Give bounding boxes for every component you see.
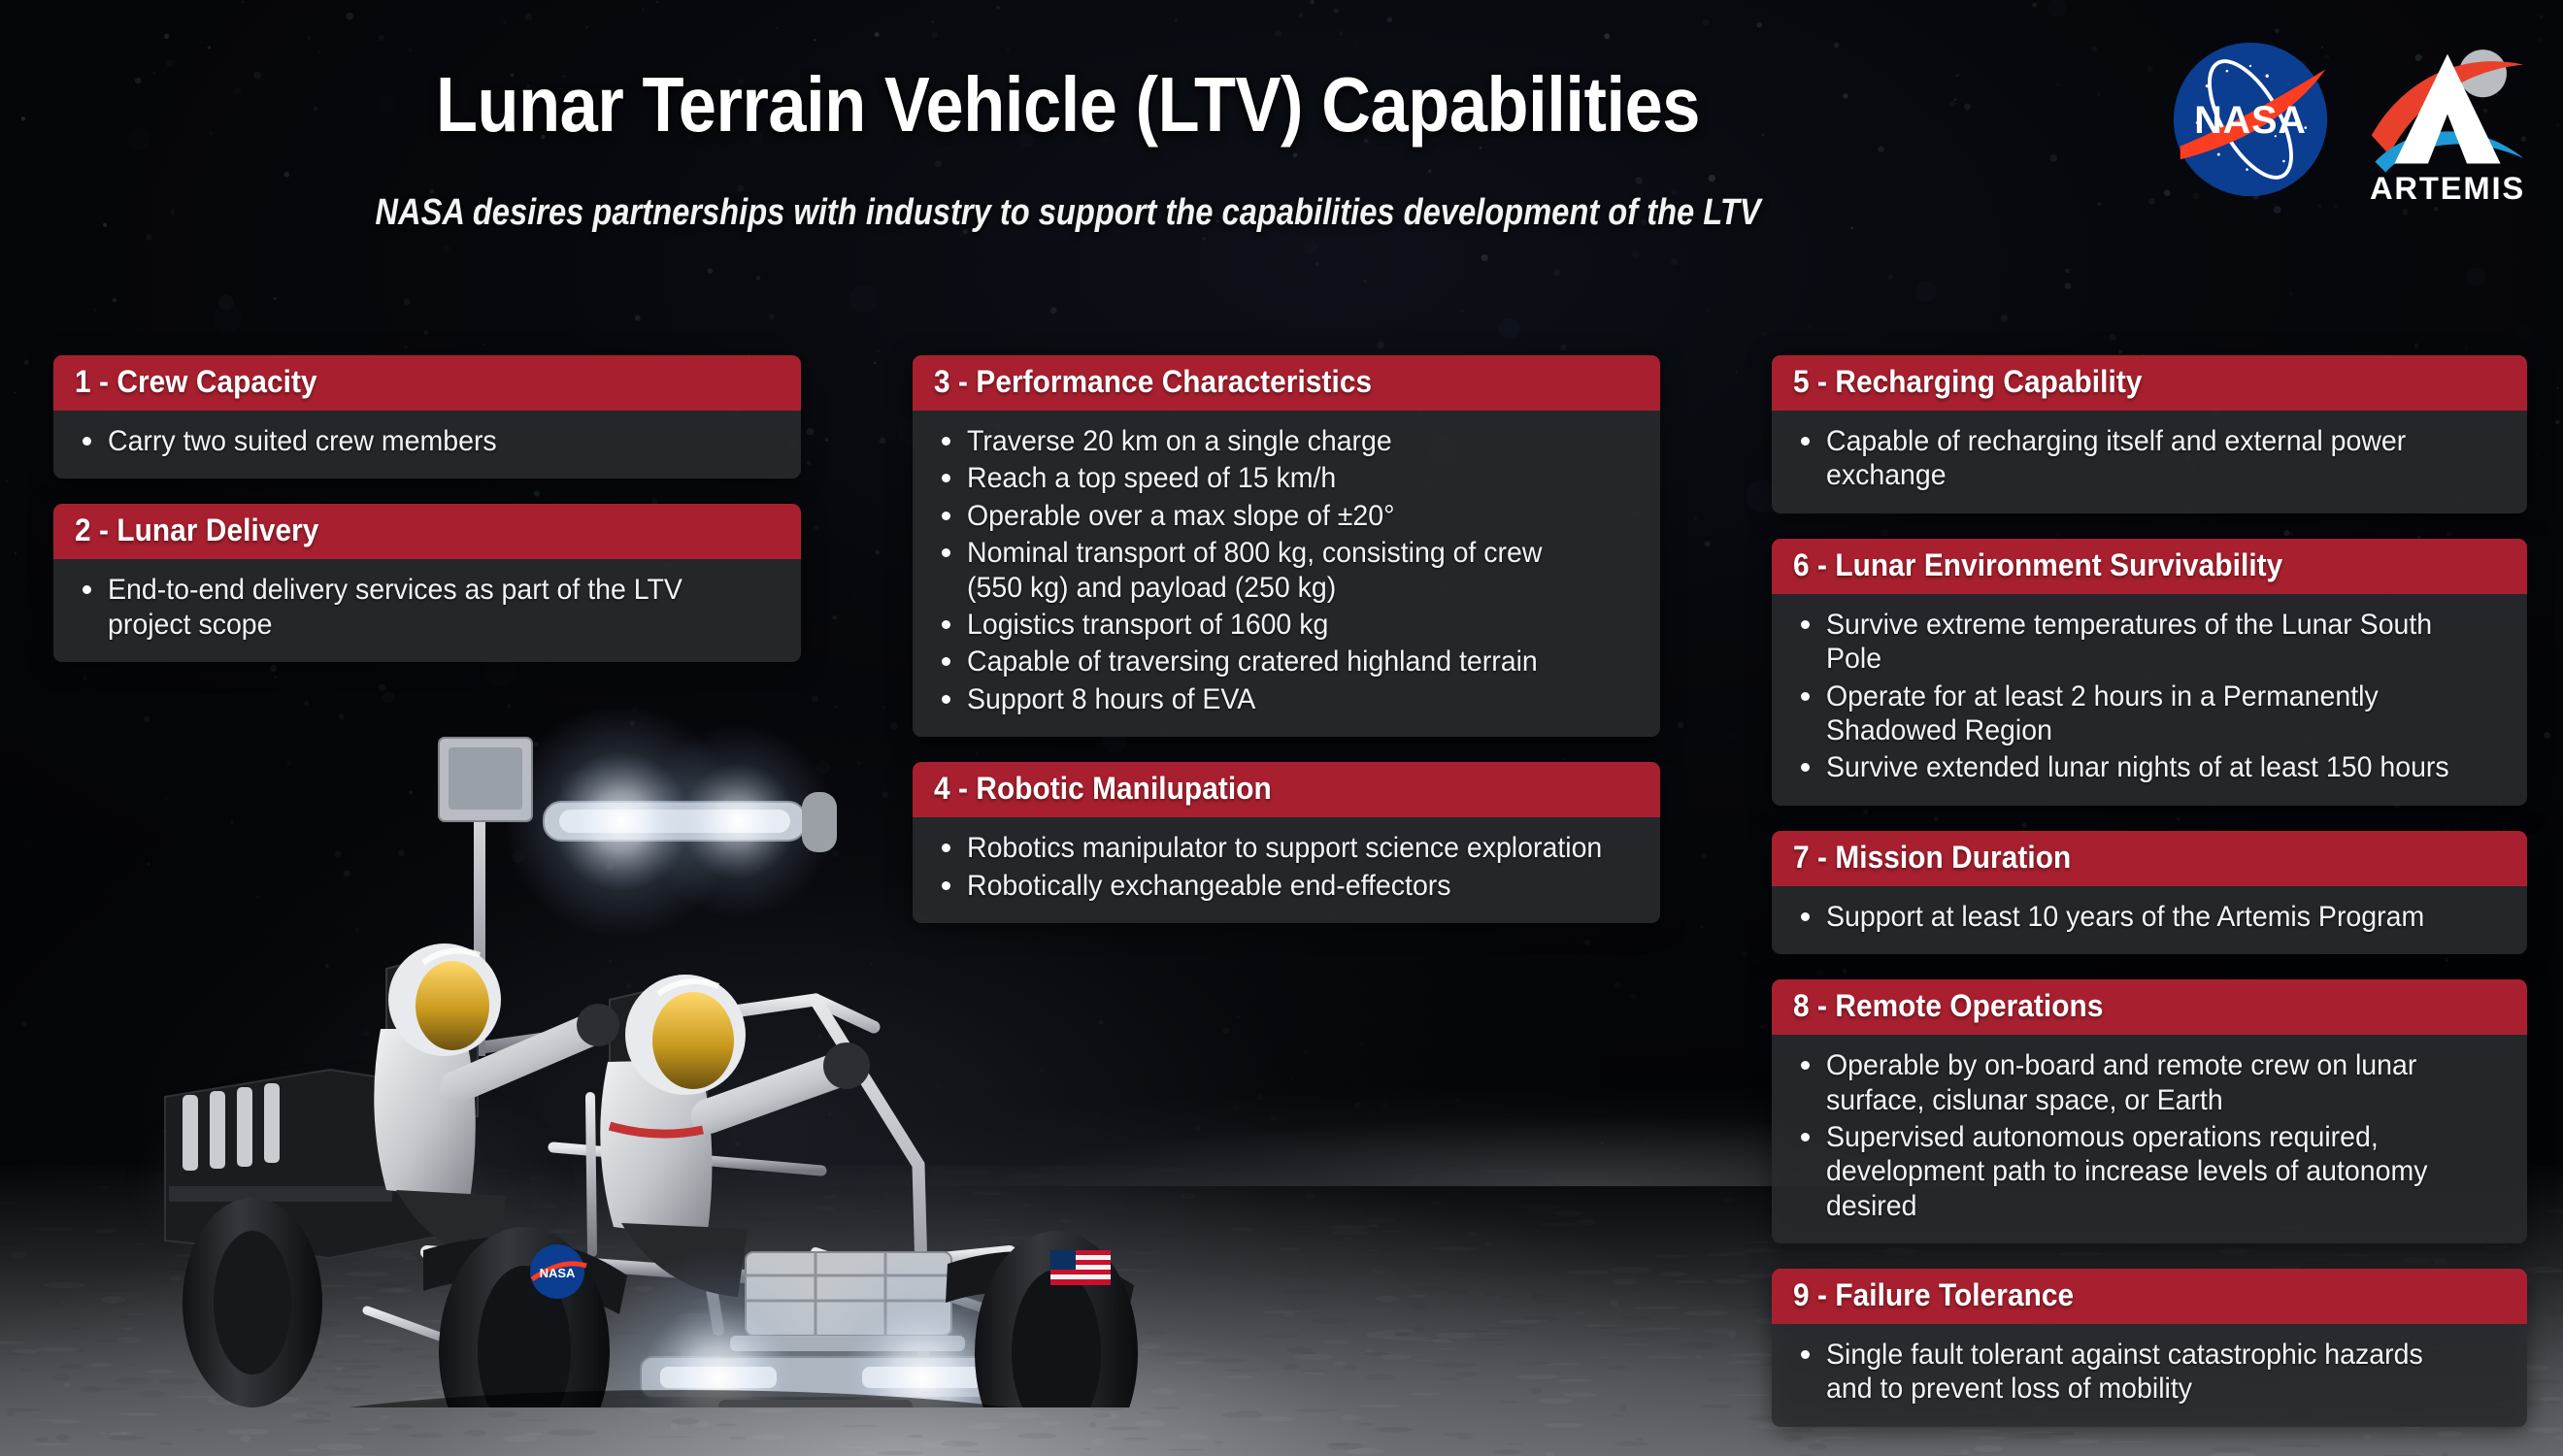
bullet-text: Operate for at least 2 hours in a Perman…: [1826, 679, 2470, 748]
bullet-text: Carry two suited crew members: [108, 424, 497, 458]
card-recharging-capability: 5 - Recharging CapabilityCapable of rech…: [1772, 355, 2527, 513]
card-title: 6 - Lunar Environment Survivability: [1793, 547, 2282, 583]
card-crew-capacity: 1 - Crew CapacityCarry two suited crew m…: [53, 355, 801, 479]
bullet-item: Traverse 20 km on a single charge: [938, 424, 1637, 458]
bullet-text: Nominal transport of 800 kg, consisting …: [967, 536, 1604, 605]
card-body: Single fault tolerant against catastroph…: [1772, 1324, 2527, 1427]
card-header: 7 - Mission Duration: [1772, 831, 2527, 886]
bullet-list: Carry two suited crew members: [79, 424, 778, 458]
card-header: 6 - Lunar Environment Survivability: [1772, 539, 2527, 594]
card-header: 8 - Remote Operations: [1772, 979, 2527, 1035]
card-lunar-environment-survivability: 6 - Lunar Environment SurvivabilitySurvi…: [1772, 539, 2527, 806]
bullet-text: Supervised autonomous operations require…: [1826, 1120, 2470, 1223]
card-header: 9 - Failure Tolerance: [1772, 1269, 2527, 1324]
bullet-item: Capable of traversing cratered highland …: [938, 645, 1637, 678]
card-title: 2 - Lunar Delivery: [75, 513, 318, 548]
page-title: Lunar Terrain Vehicle (LTV) Capabilities: [128, 60, 2008, 149]
header: Lunar Terrain Vehicle (LTV) Capabilities…: [0, 0, 2563, 320]
bullet-text: Reach a top speed of 15 km/h: [967, 461, 1336, 495]
card-header: 5 - Recharging Capability: [1772, 355, 2527, 411]
card-performance-characteristics: 3 - Performance CharacteristicsTraverse …: [913, 355, 1660, 737]
card-failure-tolerance: 9 - Failure ToleranceSingle fault tolera…: [1772, 1269, 2527, 1427]
artemis-program-logo: ARTEMIS: [2359, 31, 2536, 208]
card-title: 7 - Mission Duration: [1793, 840, 2071, 876]
logo-group: NASA ARTEMIS: [2167, 31, 2536, 208]
bullet-text: End-to-end delivery services as part of …: [108, 573, 745, 642]
bullet-item: Robotically exchangeable end-effectors: [938, 869, 1637, 903]
card-header: 3 - Performance Characteristics: [913, 355, 1660, 411]
card-title: 3 - Performance Characteristics: [934, 364, 1372, 400]
card-body: Survive extreme temperatures of the Luna…: [1772, 594, 2527, 806]
bullet-item: End-to-end delivery services as part of …: [79, 573, 778, 642]
bullet-item: Operate for at least 2 hours in a Perman…: [1797, 679, 2504, 748]
bullet-text: Capable of recharging itself and externa…: [1826, 424, 2470, 493]
bullet-item: Support at least 10 years of the Artemis…: [1797, 900, 2504, 934]
bullet-text: Capable of traversing cratered highland …: [967, 645, 1538, 678]
card-header: 1 - Crew Capacity: [53, 355, 801, 411]
bullet-item: Supervised autonomous operations require…: [1797, 1120, 2504, 1223]
bullet-list: End-to-end delivery services as part of …: [79, 573, 778, 642]
card-body: End-to-end delivery services as part of …: [53, 559, 801, 662]
bullet-list: Operable by on-board and remote crew on …: [1797, 1048, 2504, 1223]
card-header: 4 - Robotic Manilupation: [913, 762, 1660, 817]
bullet-text: Single fault tolerant against catastroph…: [1826, 1338, 2470, 1406]
bullet-item: Logistics transport of 1600 kg: [938, 608, 1637, 642]
bullet-list: Support at least 10 years of the Artemis…: [1797, 900, 2504, 934]
bullet-text: Operable over a max slope of ±20°: [967, 499, 1395, 533]
card-robotic-manipulation: 4 - Robotic ManilupationRobotics manipul…: [913, 762, 1660, 923]
column-3: 5 - Recharging CapabilityCapable of rech…: [1772, 355, 2527, 1452]
artemis-wordmark: ARTEMIS: [2370, 170, 2525, 206]
bullet-item: Single fault tolerant against catastroph…: [1797, 1338, 2504, 1406]
bullet-list: Capable of recharging itself and externa…: [1797, 424, 2504, 493]
bullet-text: Survive extended lunar nights of at leas…: [1826, 750, 2449, 784]
bullet-list: Survive extreme temperatures of the Luna…: [1797, 608, 2504, 785]
bullet-text: Robotically exchangeable end-effectors: [967, 869, 1451, 903]
card-title: 4 - Robotic Manilupation: [934, 771, 1272, 807]
nasa-meatball-logo: NASA: [2167, 36, 2334, 203]
bullet-list: Robotics manipulator to support science …: [938, 831, 1637, 903]
bullet-list: Traverse 20 km on a single chargeReach a…: [938, 424, 1637, 716]
card-title: 9 - Failure Tolerance: [1793, 1277, 2074, 1313]
card-body: Support at least 10 years of the Artemis…: [1772, 886, 2527, 954]
bullet-item: Robotics manipulator to support science …: [938, 831, 1637, 865]
bullet-item: Nominal transport of 800 kg, consisting …: [938, 536, 1637, 605]
nasa-wordmark: NASA: [2194, 99, 2307, 142]
bullet-item: Reach a top speed of 15 km/h: [938, 461, 1637, 495]
card-title: 5 - Recharging Capability: [1793, 364, 2143, 400]
card-title: 1 - Crew Capacity: [75, 364, 317, 400]
card-body: Robotics manipulator to support science …: [913, 817, 1660, 923]
bullet-text: Logistics transport of 1600 kg: [967, 608, 1328, 642]
card-header: 2 - Lunar Delivery: [53, 504, 801, 559]
bullet-text: Robotics manipulator to support science …: [967, 831, 1602, 865]
bullet-text: Support at least 10 years of the Artemis…: [1826, 900, 2424, 934]
bullet-item: Operable by on-board and remote crew on …: [1797, 1048, 2504, 1117]
page-subtitle: NASA desires partnerships with industry …: [150, 192, 1986, 234]
column-2: 3 - Performance CharacteristicsTraverse …: [913, 355, 1660, 948]
card-lunar-delivery: 2 - Lunar DeliveryEnd-to-end delivery se…: [53, 504, 801, 662]
card-body: Carry two suited crew members: [53, 411, 801, 479]
bullet-list: Single fault tolerant against catastroph…: [1797, 1338, 2504, 1406]
card-remote-operations: 8 - Remote OperationsOperable by on-boar…: [1772, 979, 2527, 1243]
svg-text:NASA: NASA: [540, 1266, 576, 1280]
bullet-item: Support 8 hours of EVA: [938, 682, 1637, 716]
bullet-text: Traverse 20 km on a single charge: [967, 424, 1392, 458]
bullet-item: Capable of recharging itself and externa…: [1797, 424, 2504, 493]
card-body: Capable of recharging itself and externa…: [1772, 411, 2527, 513]
infographic-root: NASA Lunar Terrain Vehicle (LTV) Capabil…: [0, 0, 2563, 1456]
bullet-text: Support 8 hours of EVA: [967, 682, 1255, 716]
bullet-item: Operable over a max slope of ±20°: [938, 499, 1637, 533]
card-body: Traverse 20 km on a single chargeReach a…: [913, 411, 1660, 737]
bullet-item: Survive extreme temperatures of the Luna…: [1797, 608, 2504, 677]
bullet-text: Operable by on-board and remote crew on …: [1826, 1048, 2470, 1117]
bullet-item: Carry two suited crew members: [79, 424, 778, 458]
bullet-item: Survive extended lunar nights of at leas…: [1797, 750, 2504, 784]
card-mission-duration: 7 - Mission DurationSupport at least 10 …: [1772, 831, 2527, 954]
bullet-text: Survive extreme temperatures of the Luna…: [1826, 608, 2470, 677]
card-body: Operable by on-board and remote crew on …: [1772, 1035, 2527, 1243]
column-1: 1 - Crew CapacityCarry two suited crew m…: [53, 355, 801, 687]
card-title: 8 - Remote Operations: [1793, 988, 2103, 1024]
